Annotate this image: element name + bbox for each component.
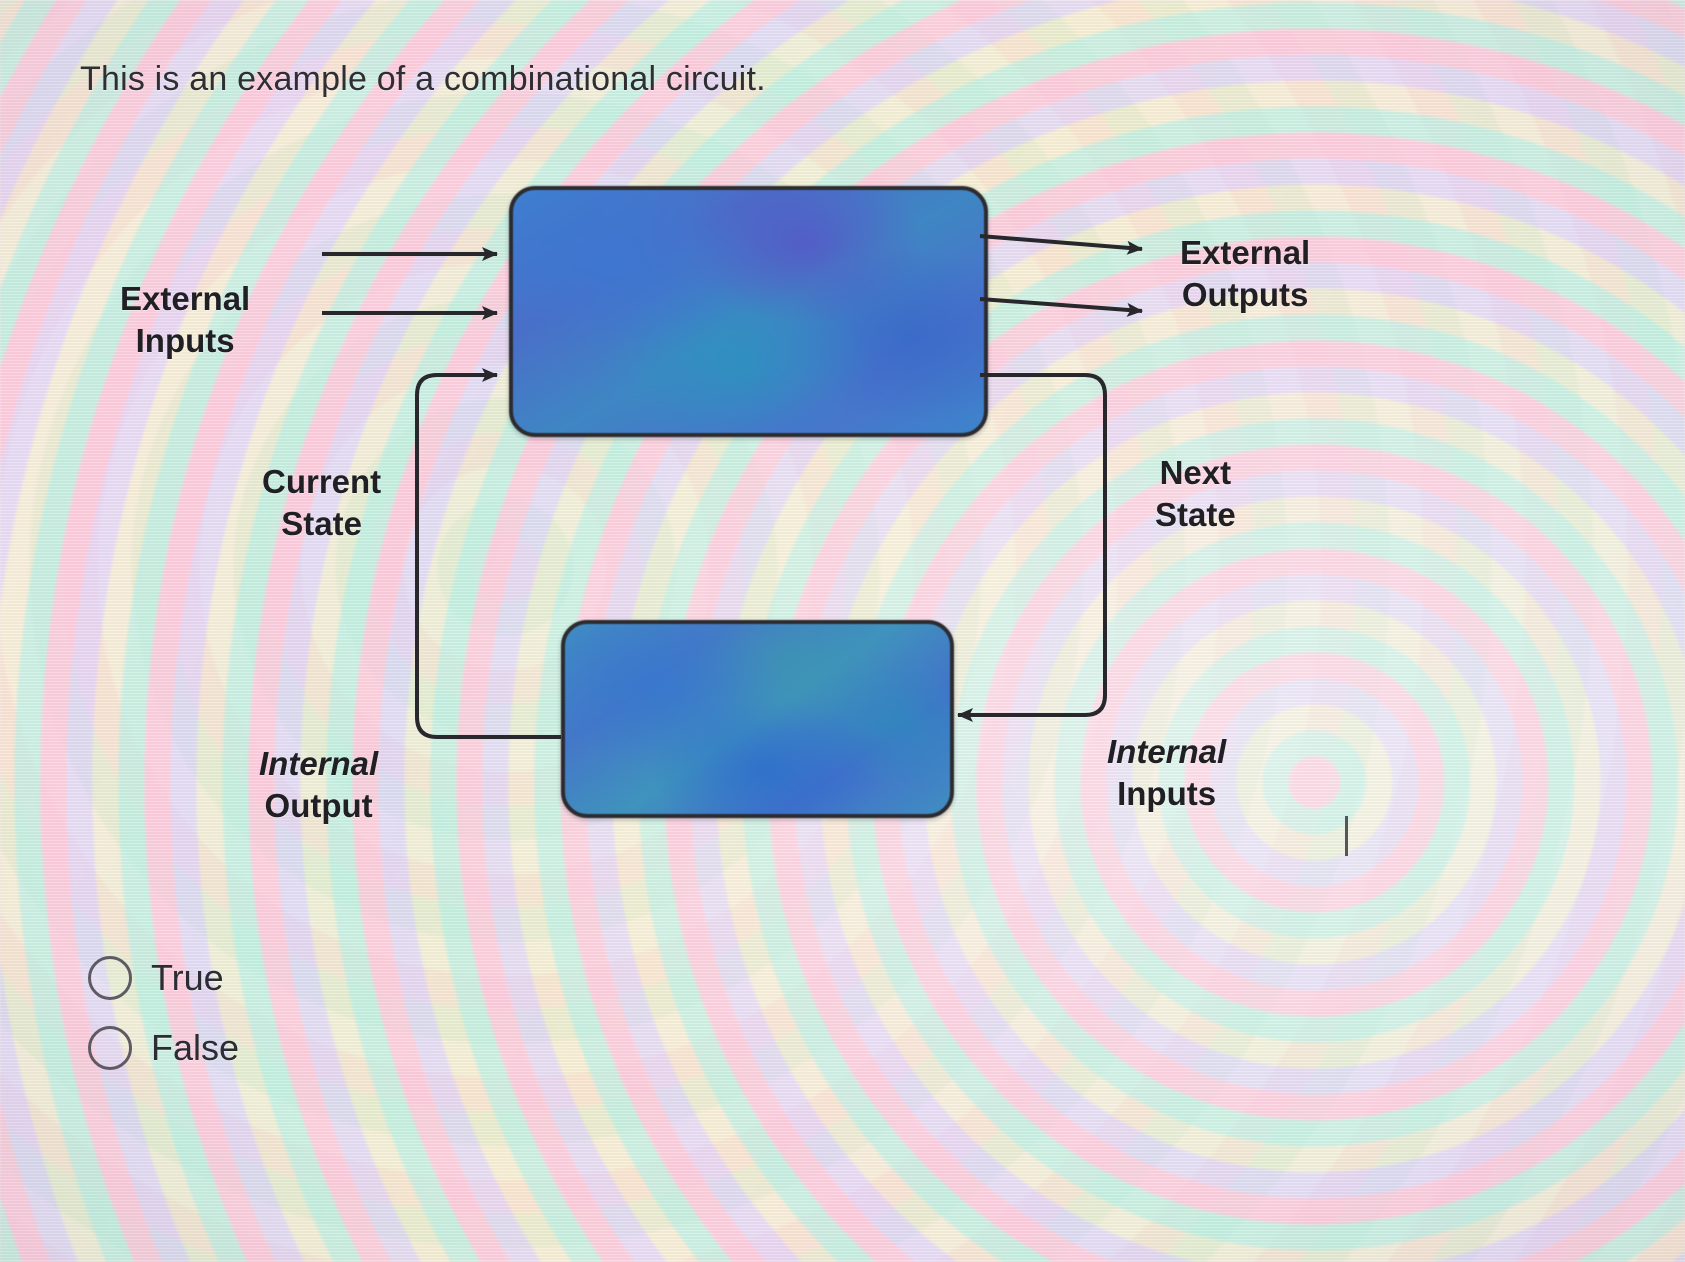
answer-option-false[interactable]: False — [88, 1013, 239, 1083]
label-next-state: Next State — [1155, 452, 1236, 536]
label-external-outputs: External Outputs — [1180, 232, 1310, 316]
label-next-state-line2: State — [1155, 494, 1236, 536]
label-external-inputs-line1: External — [120, 280, 250, 317]
radio-button-false-icon[interactable] — [88, 1026, 132, 1070]
wire-external-output-2 — [980, 299, 1142, 311]
label-external-inputs: External Inputs — [120, 278, 250, 362]
label-current-state-line2: State — [262, 503, 381, 545]
label-current-state: Current State — [262, 461, 381, 545]
label-next-state-line1: Next — [1160, 454, 1232, 491]
storage-elements-block — [561, 620, 954, 818]
text-caret-artifact — [1345, 816, 1348, 856]
label-internal-output-line2: Output — [259, 785, 378, 827]
radio-button-true-icon[interactable] — [88, 956, 132, 1000]
label-external-outputs-line1: External — [1180, 234, 1310, 271]
answer-options-group: True False — [88, 943, 239, 1083]
label-internal-output: Internal Output — [259, 743, 378, 827]
question-prompt: This is an example of a combinational ci… — [80, 60, 766, 99]
label-internal-inputs: Internal Inputs — [1107, 731, 1226, 815]
label-internal-inputs-line1: Internal — [1107, 733, 1226, 770]
question-page: This is an example of a combinational ci… — [0, 0, 1685, 1262]
answer-label-false: False — [151, 1027, 239, 1069]
wire-external-output-1 — [980, 236, 1142, 249]
answer-option-true[interactable]: True — [88, 943, 239, 1013]
combinational-logic-block — [509, 186, 988, 437]
label-internal-output-line1: Internal — [259, 745, 378, 782]
answer-label-true: True — [151, 957, 224, 999]
label-internal-inputs-line2: Inputs — [1107, 773, 1226, 815]
label-external-outputs-line2: Outputs — [1180, 274, 1310, 316]
label-external-inputs-line2: Inputs — [120, 320, 250, 362]
label-current-state-line1: Current — [262, 463, 381, 500]
